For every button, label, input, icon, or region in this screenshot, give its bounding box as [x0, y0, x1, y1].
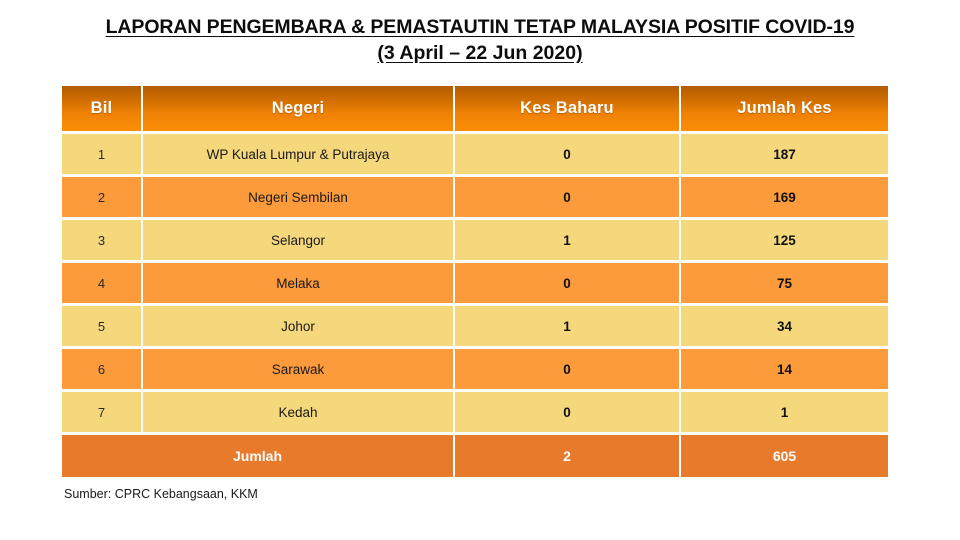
- table-row: 1 WP Kuala Lumpur & Putrajaya 0 187: [62, 134, 888, 177]
- cell-jumlah-kes: 125: [681, 220, 888, 263]
- total-label: Jumlah: [62, 435, 455, 477]
- cell-kes-baharu: 0: [455, 349, 681, 392]
- table-row: 2 Negeri Sembilan 0 169: [62, 177, 888, 220]
- cell-bil: 3: [62, 220, 143, 263]
- table-header: Bil Negeri Kes Baharu Jumlah Kes: [62, 86, 888, 134]
- title-main: LAPORAN PENGEMBARA & PEMASTAUTIN TETAP M…: [106, 14, 855, 40]
- total-kes-baharu: 2: [455, 435, 681, 477]
- cell-negeri: Sarawak: [143, 349, 455, 392]
- cell-bil: 6: [62, 349, 143, 392]
- cell-kes-baharu: 1: [455, 306, 681, 349]
- title-subtitle: (3 April – 22 Jun 2020): [377, 40, 582, 66]
- table-total-row: Jumlah 2 605: [62, 435, 888, 477]
- cell-negeri: Kedah: [143, 392, 455, 435]
- cell-jumlah-kes: 34: [681, 306, 888, 349]
- table-header-row: Bil Negeri Kes Baharu Jumlah Kes: [62, 86, 888, 134]
- column-header-kes-baharu: Kes Baharu: [455, 86, 681, 134]
- source-note: Sumber: CPRC Kebangsaan, KKM: [64, 487, 258, 501]
- cell-kes-baharu: 0: [455, 177, 681, 220]
- cell-bil: 2: [62, 177, 143, 220]
- table-row: 5 Johor 1 34: [62, 306, 888, 349]
- table-row: 3 Selangor 1 125: [62, 220, 888, 263]
- cell-bil: 7: [62, 392, 143, 435]
- table-body: 1 WP Kuala Lumpur & Putrajaya 0 187 2 Ne…: [62, 134, 888, 477]
- cell-bil: 5: [62, 306, 143, 349]
- statistics-table-container: Bil Negeri Kes Baharu Jumlah Kes 1 WP Ku…: [62, 86, 888, 477]
- column-header-jumlah-kes: Jumlah Kes: [681, 86, 888, 134]
- table-row: 4 Melaka 0 75: [62, 263, 888, 306]
- cell-jumlah-kes: 1: [681, 392, 888, 435]
- cell-kes-baharu: 0: [455, 134, 681, 177]
- cell-negeri: WP Kuala Lumpur & Putrajaya: [143, 134, 455, 177]
- column-header-bil: Bil: [62, 86, 143, 134]
- cell-jumlah-kes: 187: [681, 134, 888, 177]
- cell-jumlah-kes: 14: [681, 349, 888, 392]
- total-jumlah-kes: 605: [681, 435, 888, 477]
- column-header-negeri: Negeri: [143, 86, 455, 134]
- cell-jumlah-kes: 75: [681, 263, 888, 306]
- page-title: LAPORAN PENGEMBARA & PEMASTAUTIN TETAP M…: [0, 14, 960, 66]
- cell-negeri: Johor: [143, 306, 455, 349]
- cell-jumlah-kes: 169: [681, 177, 888, 220]
- cell-bil: 4: [62, 263, 143, 306]
- cell-negeri: Negeri Sembilan: [143, 177, 455, 220]
- cell-bil: 1: [62, 134, 143, 177]
- cell-kes-baharu: 0: [455, 263, 681, 306]
- cell-negeri: Melaka: [143, 263, 455, 306]
- table-row: 7 Kedah 0 1: [62, 392, 888, 435]
- cell-kes-baharu: 1: [455, 220, 681, 263]
- statistics-table: Bil Negeri Kes Baharu Jumlah Kes 1 WP Ku…: [62, 86, 888, 477]
- table-row: 6 Sarawak 0 14: [62, 349, 888, 392]
- cell-kes-baharu: 0: [455, 392, 681, 435]
- cell-negeri: Selangor: [143, 220, 455, 263]
